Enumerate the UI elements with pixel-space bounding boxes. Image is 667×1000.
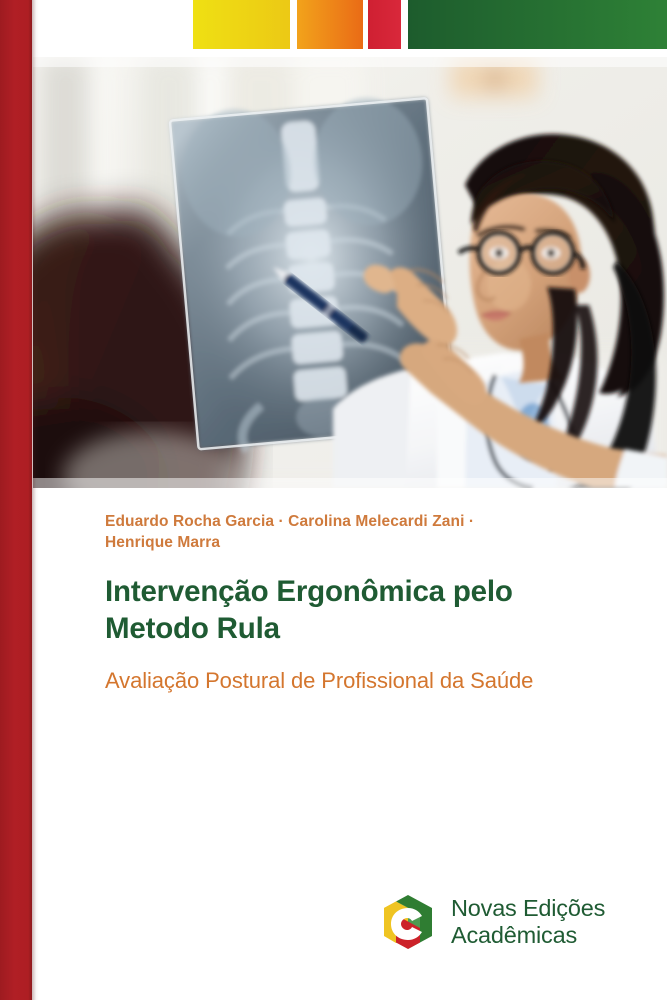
book-title: Intervenção Ergonômica pelo Metodo Rula (105, 574, 605, 647)
top-color-bands (39, 0, 667, 49)
cover-text-block: Eduardo Rocha Garcia · Carolina Melecard… (105, 512, 625, 695)
publisher-name: Novas Edições Acadêmicas (451, 895, 605, 950)
band-orange (297, 0, 363, 49)
book-cover: Eduardo Rocha Garcia · Carolina Melecard… (0, 0, 667, 1000)
cover-photo (33, 57, 667, 488)
book-spine (0, 0, 32, 1000)
hexagon-logo-icon (378, 893, 438, 951)
band-green (408, 0, 667, 49)
band-yellow (193, 0, 290, 49)
doctor-examining-xray-illustration (33, 57, 667, 488)
authors-line: Eduardo Rocha Garcia · Carolina Melecard… (105, 512, 545, 553)
spine-shadow (32, 0, 39, 1000)
band-red (368, 0, 401, 49)
book-subtitle: Avaliação Postural de Profissional da Sa… (105, 667, 615, 695)
publisher-logo: Novas Edições Acadêmicas (378, 893, 605, 951)
